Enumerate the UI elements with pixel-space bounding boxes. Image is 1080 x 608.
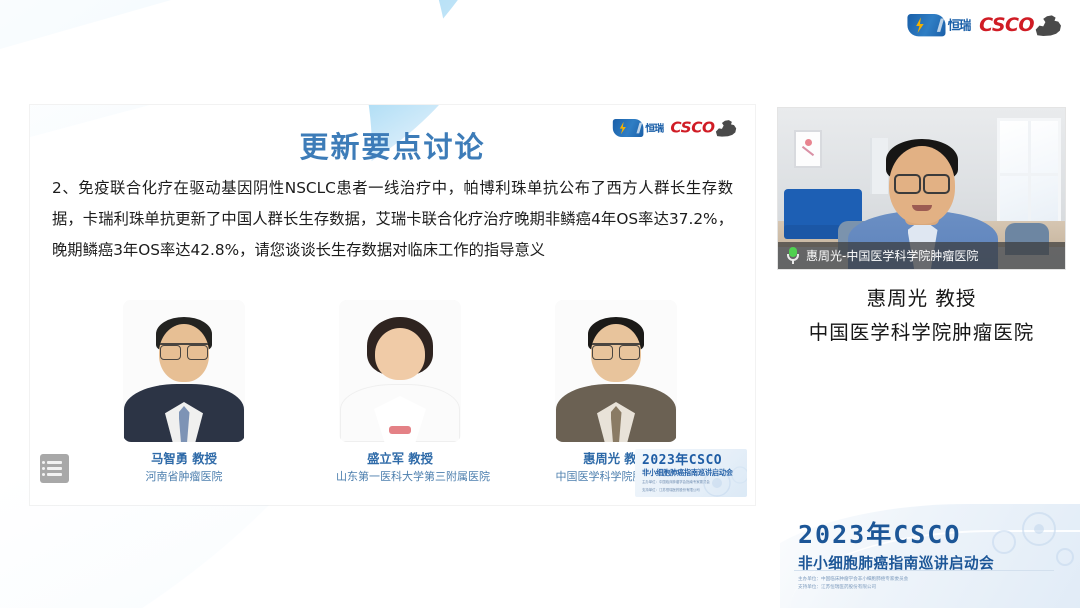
slide-body-text: 2、免疫联合化疗在驱动基因阴性NSCLC患者一线治疗中，帕博利珠单抗公布了西方人… (52, 173, 733, 267)
video-person-glasses (894, 174, 950, 190)
banner-circle-large (1022, 512, 1056, 546)
video-nameplate: 惠周光-中国医学科学院肿瘤医院 (778, 242, 1065, 269)
speaker-name: 惠周光 教授 (777, 282, 1066, 311)
video-nameplate-label: 惠周光-中国医学科学院肿瘤医院 (806, 247, 978, 264)
panelist-card[interactable]: 盛立军 教授 山东第一医科大学第三附属医院 (336, 300, 464, 484)
banner-fine-print-1: 主办单位：中国临床肿瘤学会非小细胞肺癌专家委员会 (798, 576, 908, 584)
hengrui-logo-icon (907, 14, 945, 36)
csco-ox-logo-icon (1035, 14, 1062, 36)
slide-hengrui-logo: 恒瑞 (613, 119, 663, 137)
slide-hengrui-logo-label: 恒瑞 (645, 121, 663, 135)
speaker-organization: 中国医学科学院肿瘤医院 (777, 316, 1066, 345)
banner-fine-print: 主办单位：中国临床肿瘤学会非小细胞肺癌专家委员会 支持单位：江苏恒瑞医药股份有限… (798, 576, 908, 593)
presentation-screen: 恒瑞 CSCO 更新要点讨论 恒瑞 CSCO 2、免疫联合化疗在驱动基因阴性NS… (0, 0, 1080, 608)
event-banner: 2023年CSCO 非小细胞肺癌指南巡讲启动会 主办单位：中国临床肿瘤学会非小细… (780, 500, 1080, 608)
csco-ox-logo-icon (715, 119, 737, 137)
banner-fine-print-2: 支持单位：江苏恒瑞医药股份有限公司 (798, 584, 908, 592)
hengrui-logo-label: 恒瑞 (948, 16, 970, 34)
csco-logo: CSCO (979, 14, 1062, 36)
badge-decor-circles (697, 463, 747, 497)
speaker-info: 惠周光 教授 中国医学科学院肿瘤医院 (777, 282, 1066, 345)
brand-logo-lockup: 恒瑞 CSCO (907, 14, 1062, 36)
hengrui-logo: 恒瑞 (907, 14, 970, 36)
video-window (997, 118, 1061, 236)
microphone-icon (787, 247, 799, 264)
video-feed-panel[interactable]: 惠周光-中国医学科学院肿瘤医院 (777, 107, 1066, 270)
slide-csco-logo: CSCO (670, 119, 737, 137)
video-person-mouth (912, 205, 932, 211)
banner-circle-small (1056, 548, 1074, 566)
slide-event-badge: 2023年CSCO 非小细胞肺癌指南巡讲启动会 主办单位：中国临床肿瘤学会指南专… (635, 449, 747, 497)
panelist-org: 山东第一医科大学第三附属医院 (336, 468, 464, 484)
slide-csco-logo-label: CSCO (670, 119, 714, 137)
list-view-icon[interactable] (40, 454, 69, 483)
video-wall-art (794, 130, 822, 168)
panelist-photo (123, 300, 245, 442)
panelist-org: 河南省肿瘤医院 (120, 468, 248, 484)
banner-circle-medium (992, 530, 1016, 554)
panelist-name: 马智勇 教授 (120, 449, 248, 467)
hengrui-logo-icon (613, 119, 644, 137)
panelist-card[interactable]: 马智勇 教授 河南省肿瘤医院 (120, 300, 248, 484)
panelist-row: 马智勇 教授 河南省肿瘤医院 盛立军 教授 山东第一医科大学第三附属医院 (120, 300, 680, 484)
slide-canvas[interactable]: 更新要点讨论 恒瑞 CSCO 2、免疫联合化疗在驱动基因阴性NSCLC患者一线治… (30, 105, 755, 505)
banner-divider (794, 570, 1054, 571)
panelist-photo (555, 300, 677, 442)
csco-logo-label: CSCO (979, 14, 1034, 36)
slide-brand-logo-lockup: 恒瑞 CSCO (613, 119, 737, 137)
panelist-photo (339, 300, 461, 442)
panelist-name: 盛立军 教授 (336, 449, 464, 467)
banner-title: 2023年CSCO (798, 522, 961, 547)
